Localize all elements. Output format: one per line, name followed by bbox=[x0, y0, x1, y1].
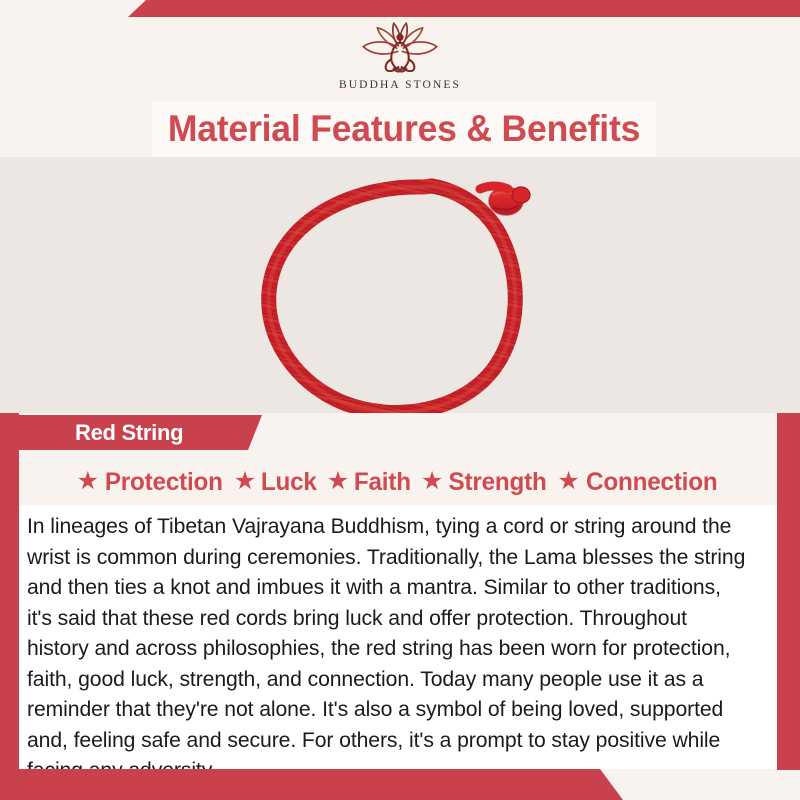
benefit-label: Luck bbox=[261, 468, 317, 497]
star-icon: ★ bbox=[327, 469, 349, 494]
benefit-label: Protection bbox=[105, 468, 223, 497]
benefit-label: Faith bbox=[354, 468, 411, 497]
brand-wordmark: BUDDHA STONES bbox=[339, 79, 461, 91]
star-icon: ★ bbox=[234, 469, 256, 494]
title-band: Material Features & Benefits bbox=[152, 101, 656, 157]
description-area: In lineages of Tibetan Vajrayana Buddhis… bbox=[19, 505, 777, 769]
product-photo-area bbox=[0, 157, 800, 413]
red-string-bracelet-image bbox=[236, 165, 584, 413]
brand-header: BUDDHA STONES bbox=[0, 17, 800, 100]
benefit-luck: ★ Luck bbox=[234, 468, 318, 497]
benefits-row: ★ Protection ★ Luck ★ Faith ★ Strength ★… bbox=[19, 462, 777, 502]
product-label: Red String bbox=[75, 420, 183, 446]
benefit-faith: ★ Faith bbox=[327, 468, 412, 497]
description-text: In lineages of Tibetan Vajrayana Buddhis… bbox=[27, 511, 750, 786]
benefit-protection: ★ Protection bbox=[77, 468, 225, 497]
lotus-meditation-figure-icon bbox=[352, 20, 448, 78]
benefit-label: Connection bbox=[586, 468, 717, 497]
star-icon: ★ bbox=[557, 469, 579, 494]
product-label-banner: Red String bbox=[19, 415, 262, 450]
top-accent-banner bbox=[0, 0, 800, 17]
page-title: Material Features & Benefits bbox=[168, 108, 640, 150]
benefit-connection: ★ Connection bbox=[557, 468, 719, 497]
benefit-label: Strength bbox=[449, 468, 547, 497]
benefit-strength: ★ Strength bbox=[421, 468, 549, 497]
star-icon: ★ bbox=[421, 469, 443, 494]
infographic-page: BUDDHA STONES Material Features & Benefi… bbox=[0, 0, 800, 800]
star-icon: ★ bbox=[77, 469, 99, 494]
